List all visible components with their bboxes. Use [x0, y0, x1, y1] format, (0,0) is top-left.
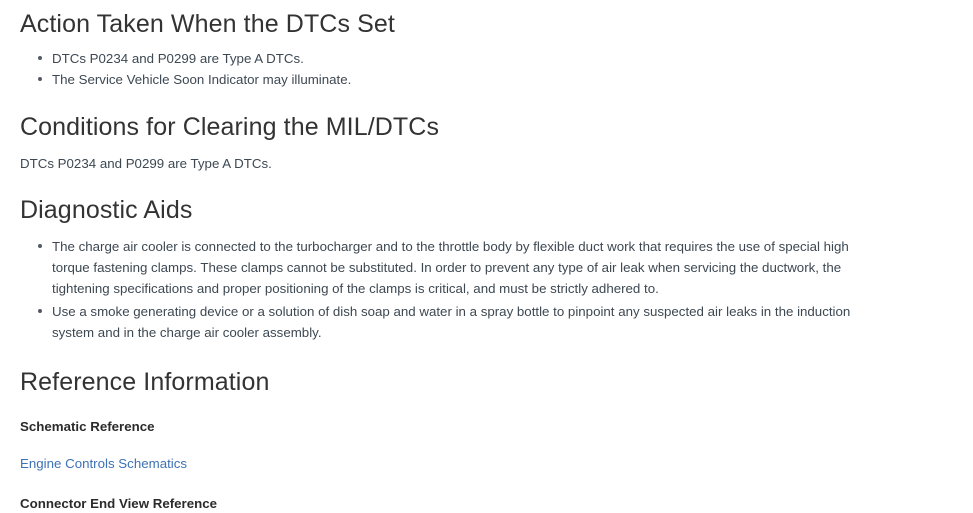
bullet-point-icon	[38, 56, 42, 60]
section-heading-conditions-for-clearing: Conditions for Clearing the MIL/DTCs	[20, 90, 953, 142]
section-heading-action-taken: Action Taken When the DTCs Set	[20, 0, 953, 39]
subheading-connector-end-view-reference: Connector End View Reference	[20, 473, 953, 513]
bullet-point-icon	[38, 77, 42, 81]
section-heading-reference-information: Reference Information	[20, 345, 953, 397]
bullet-point-icon	[38, 309, 42, 313]
link-engine-controls-schematics[interactable]: Engine Controls Schematics	[20, 455, 187, 473]
document-body: Action Taken When the DTCs Set DTCs P023…	[0, 0, 973, 513]
list-item: The Service Vehicle Soon Indicator may i…	[20, 69, 953, 90]
bullet-list-diagnostic-aids: The charge air cooler is connected to th…	[20, 236, 953, 343]
list-item-text: The Service Vehicle Soon Indicator may i…	[52, 72, 351, 87]
list-item-text: DTCs P0234 and P0299 are Type A DTCs.	[52, 51, 304, 66]
list-item: Use a smoke generating device or a solut…	[20, 301, 953, 343]
paragraph-conditions-for-clearing: DTCs P0234 and P0299 are Type A DTCs.	[20, 153, 953, 174]
subheading-schematic-reference: Schematic Reference	[20, 397, 953, 436]
bullet-point-icon	[38, 244, 42, 248]
section-heading-diagnostic-aids: Diagnostic Aids	[20, 174, 953, 225]
list-item-text: Use a smoke generating device or a solut…	[52, 301, 890, 343]
list-item-text: The charge air cooler is connected to th…	[52, 236, 890, 299]
list-item: DTCs P0234 and P0299 are Type A DTCs.	[20, 48, 953, 69]
list-item: The charge air cooler is connected to th…	[20, 236, 953, 299]
bullet-list-action-taken: DTCs P0234 and P0299 are Type A DTCs. Th…	[20, 48, 953, 90]
